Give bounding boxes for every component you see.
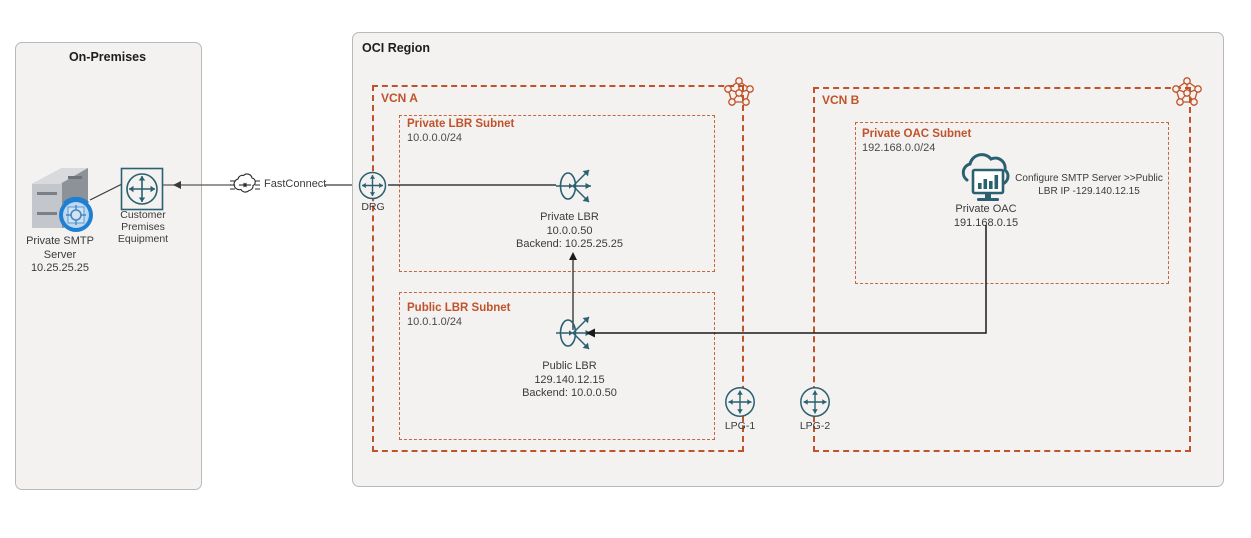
lpg-gateway-icon-2 <box>799 386 831 418</box>
public-lbr-backend: Backend: 10.0.0.50 <box>487 387 652 401</box>
cpe-to-fastconnect-line <box>163 178 233 192</box>
cpe-label-1: Customer <box>105 209 181 221</box>
vcn-network-icon-b <box>1170 76 1204 110</box>
cpe-label-3: Equipment <box>105 233 181 245</box>
drg-label: DRG <box>348 201 398 213</box>
vcn-a-label: VCN A <box>379 91 420 105</box>
private-oac-subnet-cidr: 192.168.0.0/24 <box>862 142 935 154</box>
lpg-1-label: LPG-1 <box>715 420 765 432</box>
smtp-config-note: Configure SMTP Server >>Public LBR IP -1… <box>1013 172 1165 198</box>
analytics-cloud-icon <box>955 150 1017 206</box>
private-lbr-name: Private LBR <box>487 211 652 225</box>
lpg-2-label: LPG-2 <box>790 420 840 432</box>
public-lbr-name: Public LBR <box>487 360 652 374</box>
vcn-network-icon <box>722 76 756 110</box>
vcn-b-label: VCN B <box>820 93 861 107</box>
on-premises-title: On-Premises <box>15 50 200 64</box>
smtp-server-label: Private SMTP Server 10.25.25.25 <box>5 235 115 276</box>
cpe-label-2: Premises <box>105 221 181 233</box>
diagram-canvas: On-Premises Private SMTP Server 10.25.25… <box>0 0 1251 538</box>
cpe-router-icon <box>120 167 164 211</box>
private-lbr-subnet-cidr: 10.0.0.0/24 <box>407 132 462 144</box>
private-oac-subnet-label: Private OAC Subnet <box>862 128 971 140</box>
fastconnect-label: FastConnect <box>264 178 326 190</box>
drg-to-private-lbr-line <box>388 179 558 192</box>
server-icon <box>24 158 96 236</box>
public-lbr-ip: 129.140.12.15 <box>487 374 652 388</box>
smtp-config-note-line2: LBR IP -129.140.12.15 <box>1013 185 1165 198</box>
cloud-connect-icon <box>228 170 262 200</box>
smtp-server-name: Private SMTP <box>5 235 115 249</box>
public-lbr-label: Public LBR 129.140.12.15 Backend: 10.0.0… <box>487 360 652 401</box>
private-oac-name: Private OAC <box>930 203 1042 217</box>
oac-to-public-lbr-path <box>580 225 1000 345</box>
oci-region-title: OCI Region <box>362 41 430 55</box>
drg-gateway-icon <box>358 171 387 200</box>
load-balancer-icon <box>551 164 595 208</box>
smtp-server-ip: 10.25.25.25 <box>5 262 115 276</box>
public-lbr-subnet-label: Public LBR Subnet <box>407 302 511 314</box>
smtp-server-name-2: Server <box>5 249 115 263</box>
private-lbr-subnet-label: Private LBR Subnet <box>407 118 514 130</box>
smtp-config-note-line1: Configure SMTP Server >>Public <box>1013 172 1165 185</box>
lpg-gateway-icon-1 <box>724 386 756 418</box>
public-lbr-subnet-cidr: 10.0.1.0/24 <box>407 316 462 328</box>
cpe-label: Customer Premises Equipment <box>105 209 181 245</box>
